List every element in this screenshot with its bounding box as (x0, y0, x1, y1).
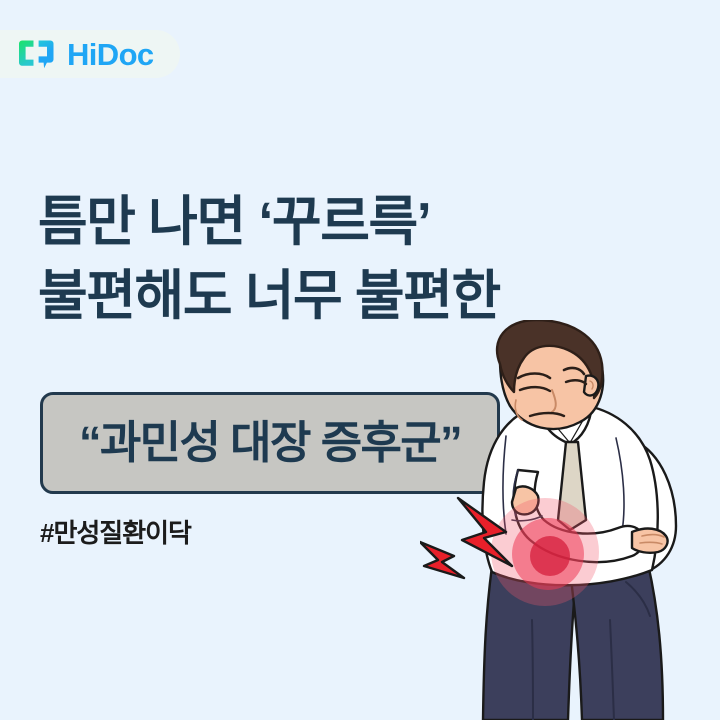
headline: 틈만 나면 ‘꾸르륵’ 불편해도 너무 불편한 (38, 186, 638, 334)
illustration-man-with-stomach-pain (420, 320, 720, 720)
headline-line-1: 틈만 나면 ‘꾸르륵’ (38, 186, 638, 260)
brand-logo[interactable]: HiDoc (0, 30, 180, 78)
hidoc-bracket-bubble-icon (18, 39, 58, 69)
emphasis-text: “과민성 대장 증후군” (79, 420, 461, 465)
hashtag: #만성질환이닥 (40, 520, 191, 546)
logo-wordmark: HiDoc (67, 39, 154, 70)
lightning-bolt-small (420, 542, 464, 578)
hidoc-promo-card: HiDoc 틈만 나면 ‘꾸르륵’ 불편해도 너무 불편한 “과민성 대장 증후… (0, 0, 720, 720)
pain-glow-circles (491, 498, 599, 606)
